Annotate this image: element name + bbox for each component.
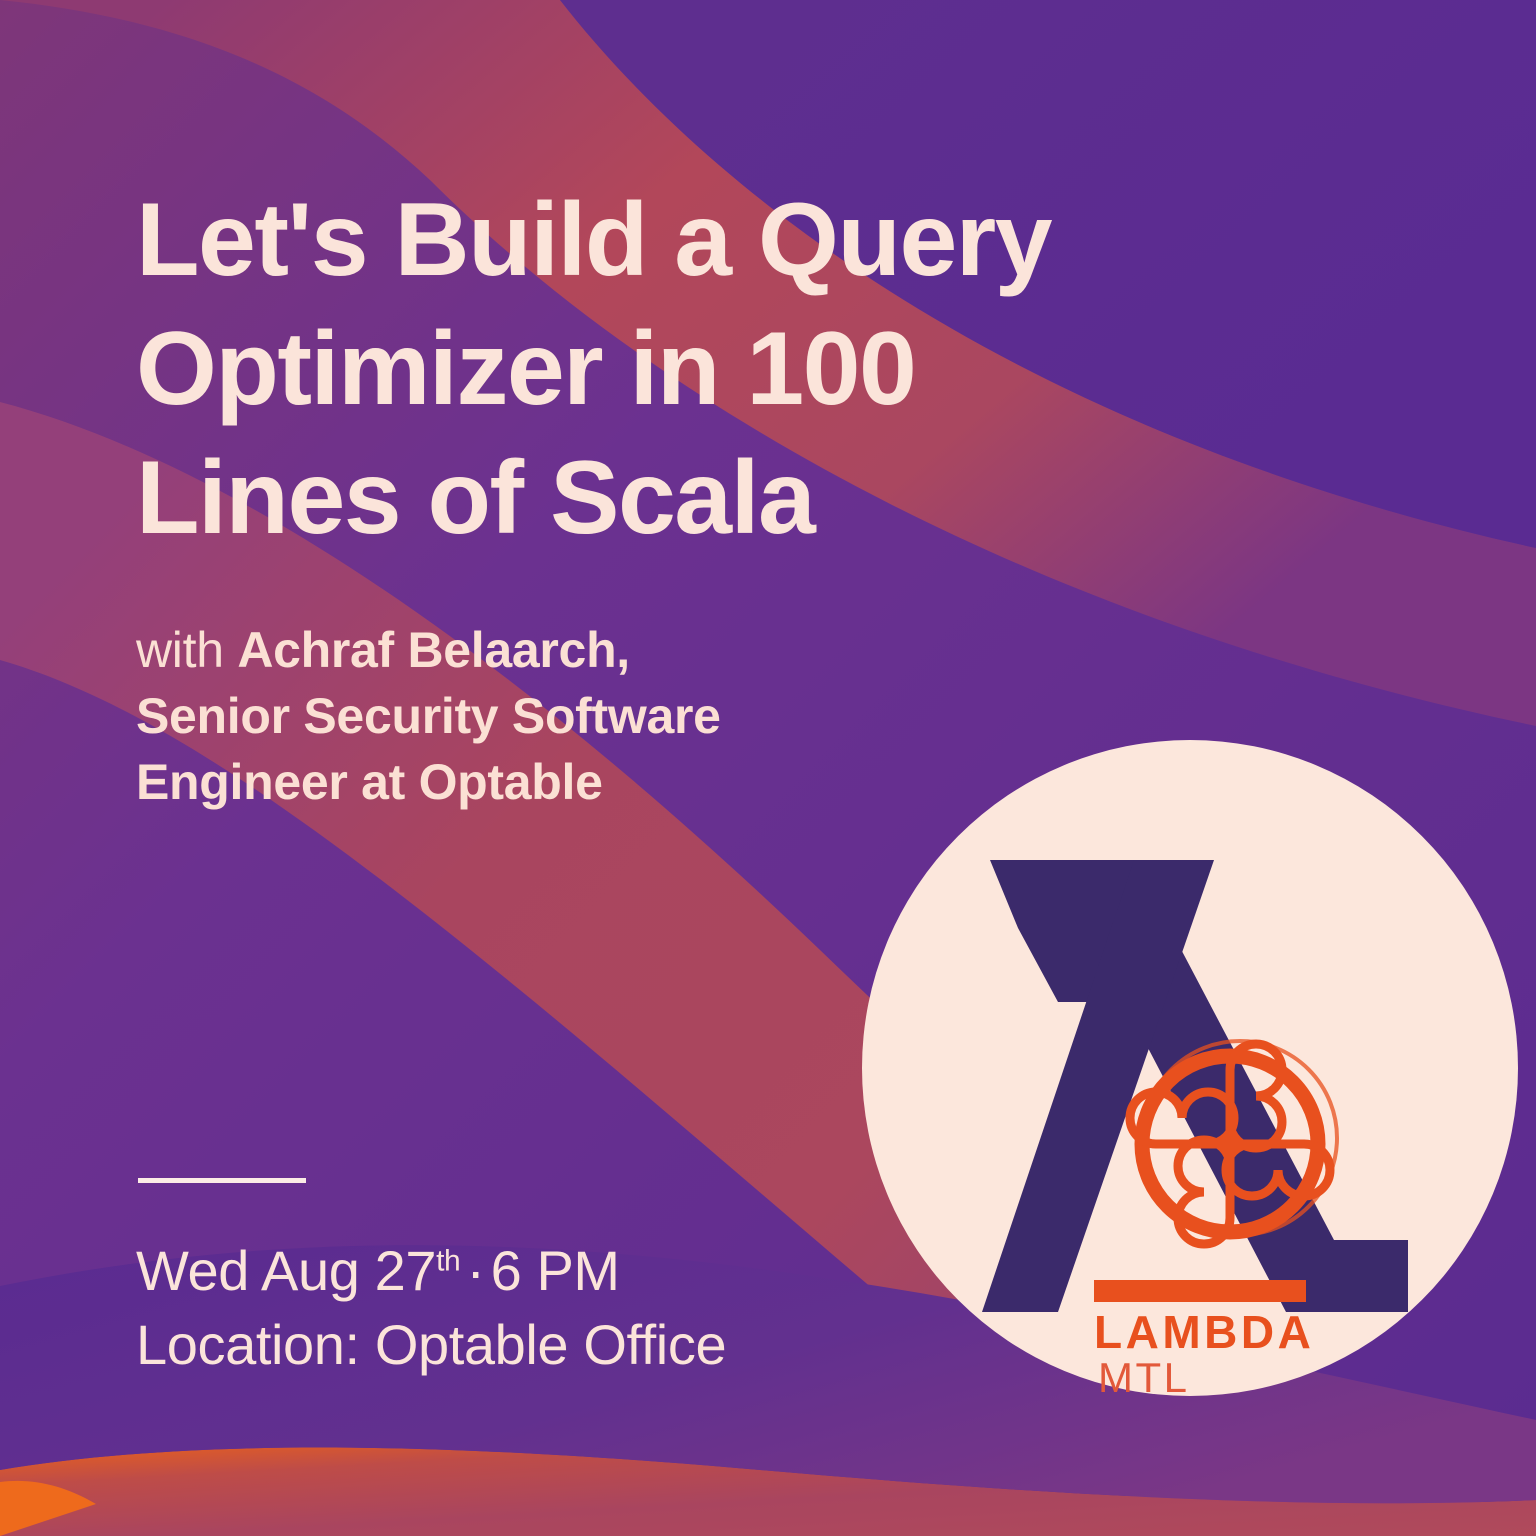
title-line-3: Lines of Scala — [136, 434, 1096, 563]
logo-subwordmark: MTL — [1098, 1354, 1190, 1396]
speaker-role-line-1: Senior Security Software — [136, 683, 916, 749]
page-title: Let's Build a Query Optimizer in 100 Lin… — [136, 176, 1096, 563]
wordmark-underline-bar — [1094, 1280, 1306, 1302]
lambda-mtl-logo: LAMBDA MTL — [862, 740, 1518, 1396]
event-location: Location: Optable Office — [136, 1308, 936, 1382]
speaker-name: Achraf Belaarch, — [237, 622, 630, 678]
event-time: 6 PM — [491, 1239, 620, 1302]
event-details: Wed Aug 27th·6 PM Location: Optable Offi… — [136, 1234, 936, 1383]
event-poster: Let's Build a Query Optimizer in 100 Lin… — [0, 0, 1536, 1536]
logo-wordmark: LAMBDA — [1094, 1306, 1314, 1358]
title-line-2: Optimizer in 100 — [136, 305, 1096, 434]
speaker-prefix: with — [136, 622, 237, 678]
event-datetime: Wed Aug 27th·6 PM — [136, 1234, 936, 1308]
poster-content: Let's Build a Query Optimizer in 100 Lin… — [0, 0, 1536, 1536]
title-line-1: Let's Build a Query — [136, 176, 1096, 305]
date-ordinal-suffix: th — [436, 1244, 460, 1277]
speaker-name-line: with Achraf Belaarch, — [136, 617, 916, 683]
section-divider — [138, 1178, 306, 1183]
speaker-role-line-2: Engineer at Optable — [136, 749, 916, 815]
speaker-info: with Achraf Belaarch, Senior Security So… — [136, 617, 916, 815]
separator-dot: · — [460, 1239, 490, 1302]
logo-svg: LAMBDA MTL — [862, 740, 1518, 1396]
event-date: Wed Aug 27 — [136, 1239, 436, 1302]
